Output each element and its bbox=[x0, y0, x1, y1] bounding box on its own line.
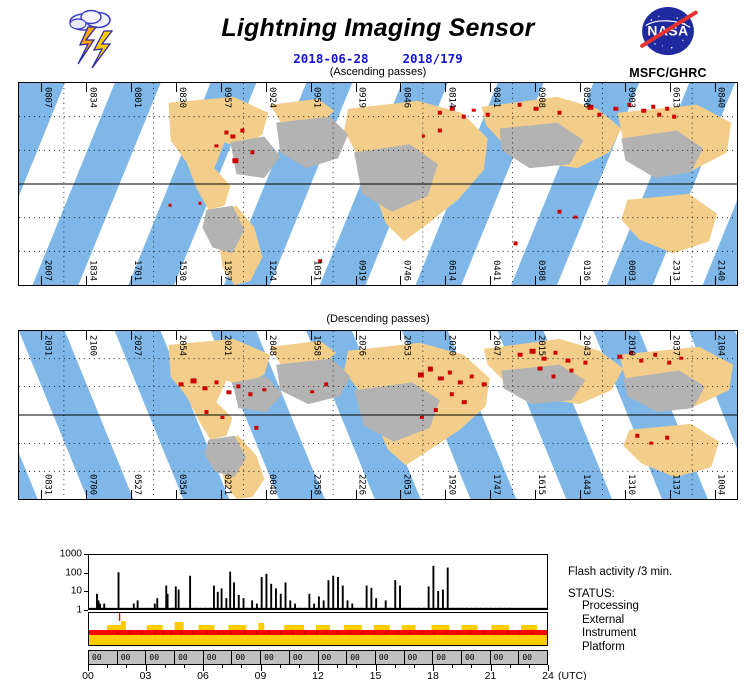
descending-caption: (Descending passes) bbox=[0, 313, 756, 325]
orbit-time-label: 2027 bbox=[132, 335, 142, 356]
flash-bar bbox=[308, 594, 310, 609]
time-axis-tick bbox=[126, 665, 127, 668]
platform-marker bbox=[298, 642, 299, 645]
flash-bar bbox=[399, 586, 401, 609]
platform-markers bbox=[89, 635, 547, 645]
orbit-time-label: 1443 bbox=[581, 474, 591, 495]
flash-bar bbox=[221, 588, 223, 609]
flash-bar bbox=[327, 580, 329, 609]
lis-daily-summary-page: Lightning Imaging Sensor 2018-06-282018/… bbox=[0, 0, 756, 680]
orbit-time-label: 1004 bbox=[716, 474, 726, 495]
flash-bar bbox=[442, 590, 444, 609]
flash-bar bbox=[289, 600, 291, 609]
orbit-time-label: 2037 bbox=[671, 335, 681, 356]
time-axis-tick bbox=[280, 665, 281, 668]
flash-bar bbox=[432, 566, 434, 609]
orbit-time-label: 1357 bbox=[222, 260, 232, 281]
platform-marker bbox=[507, 642, 508, 645]
external-marker bbox=[258, 623, 264, 630]
flash-bar bbox=[375, 598, 377, 609]
orbit-time-label: 2020 bbox=[446, 335, 456, 356]
nasa-logo-block: NASA MSFC/GHRC bbox=[622, 4, 714, 80]
hour-cell: 00 bbox=[519, 651, 547, 664]
orbit-time-label: 0613 bbox=[671, 87, 681, 108]
time-axis-label: 21 bbox=[485, 670, 497, 680]
orbit-time-label: 0048 bbox=[267, 474, 277, 495]
platform-marker bbox=[147, 642, 148, 645]
time-axis-tick bbox=[414, 665, 415, 668]
flash-bar bbox=[394, 580, 396, 609]
platform-marker bbox=[380, 642, 381, 645]
legend-item-external: External bbox=[568, 614, 756, 628]
orbit-time-label: 2140 bbox=[716, 260, 726, 281]
y-axis-tick bbox=[84, 591, 88, 592]
hour-cell: 00 bbox=[232, 651, 261, 664]
time-axis-tick bbox=[471, 665, 472, 668]
flash-bar bbox=[238, 595, 240, 609]
flash-bar bbox=[437, 591, 439, 609]
external-marker bbox=[121, 621, 126, 630]
orbit-time-label: 1920 bbox=[446, 474, 456, 495]
time-axis-label: 18 bbox=[427, 670, 439, 680]
time-axis-tick bbox=[184, 665, 185, 668]
hour-cell: 00 bbox=[319, 651, 348, 664]
orbit-time-label: 2031 bbox=[42, 335, 52, 356]
flash-bar bbox=[251, 600, 253, 609]
orbit-time-label: 2015 bbox=[536, 335, 546, 356]
status-label: STATUS: bbox=[568, 588, 756, 600]
flash-baseline bbox=[89, 608, 547, 609]
orbit-time-label: 2100 bbox=[87, 335, 97, 356]
hour-cell: 00 bbox=[462, 651, 491, 664]
hour-cell: 00 bbox=[290, 651, 319, 664]
flash-activity-label: Flash activity /3 min. bbox=[568, 566, 756, 578]
flash-activity-plot bbox=[88, 554, 548, 610]
platform-marker bbox=[338, 642, 339, 645]
flash-bar bbox=[385, 600, 387, 609]
time-axis-label: 06 bbox=[197, 670, 209, 680]
time-axis-unit-label: (UTC) bbox=[558, 670, 587, 680]
flash-bar bbox=[137, 600, 139, 609]
flash-bar bbox=[178, 590, 180, 609]
orbit-time-label: 0354 bbox=[177, 474, 187, 495]
page-header: Lightning Imaging Sensor 2018-06-282018/… bbox=[0, 0, 756, 78]
orbit-time-label: 1137 bbox=[671, 474, 681, 495]
flash-bar bbox=[118, 572, 120, 609]
flash-bar bbox=[347, 600, 349, 609]
flash-bar bbox=[318, 596, 320, 609]
time-axis-label: 12 bbox=[312, 670, 324, 680]
orbit-time-label: 2026 bbox=[357, 335, 367, 356]
flash-bar bbox=[270, 584, 272, 609]
status-bar-processing bbox=[88, 612, 548, 621]
y-axis-tick-label: 10 bbox=[71, 586, 82, 597]
flash-bar bbox=[447, 568, 449, 609]
external-marker bbox=[175, 622, 184, 630]
time-axis-tick bbox=[395, 665, 396, 668]
hour-cell: 00 bbox=[204, 651, 233, 664]
orbit-time-label: 0830 bbox=[177, 87, 187, 108]
legend-item-processing: Processing bbox=[568, 600, 756, 614]
hour-cell: 00 bbox=[146, 651, 175, 664]
hour-cell: 00 bbox=[261, 651, 290, 664]
orbit-time-label: 2054 bbox=[177, 335, 187, 356]
flash-bar bbox=[275, 588, 277, 609]
time-axis-tick bbox=[165, 665, 166, 668]
flash-bar bbox=[342, 586, 344, 609]
descending-passes-map: 2031210020272054202120481958202620532020… bbox=[18, 330, 738, 500]
flash-bar bbox=[332, 576, 334, 609]
time-axis-tick bbox=[241, 665, 242, 668]
flash-bar bbox=[243, 598, 245, 609]
legend-item-platform: Platform bbox=[568, 641, 756, 655]
time-axis-tick bbox=[299, 665, 300, 668]
time-axis-tick bbox=[356, 665, 357, 668]
flash-bar bbox=[366, 586, 368, 609]
flash-bar bbox=[167, 594, 169, 609]
hour-cell: 00 bbox=[376, 651, 405, 664]
descending-map-frame: 2031210020272054202120481958202620532020… bbox=[18, 330, 738, 500]
orbit-time-label: 0614 bbox=[446, 260, 456, 281]
y-axis-tick-label: 1 bbox=[76, 605, 82, 616]
orbit-time-label: 1051 bbox=[312, 260, 322, 281]
orbit-time-label: 0903 bbox=[626, 87, 636, 108]
status-bar-platform bbox=[88, 635, 548, 646]
orbit-time-label: 0308 bbox=[536, 260, 546, 281]
platform-marker bbox=[181, 642, 182, 645]
ascending-passes-map: 0807083408010830095709240951091908460814… bbox=[18, 82, 738, 286]
hour-cell: 00 bbox=[433, 651, 462, 664]
flash-bar bbox=[229, 572, 231, 609]
orbit-time-label: 2358 bbox=[312, 474, 322, 495]
orbit-time-label: 0924 bbox=[267, 87, 277, 108]
orbit-time-label: 0836 bbox=[581, 87, 591, 108]
y-axis-tick bbox=[84, 554, 88, 555]
orbit-time-label: 0700 bbox=[87, 474, 97, 495]
time-axis-tick bbox=[222, 665, 223, 668]
flash-bar bbox=[261, 577, 263, 609]
platform-marker bbox=[258, 642, 259, 645]
orbit-time-label: 2048 bbox=[267, 335, 277, 356]
orbit-time-label: 0441 bbox=[491, 260, 501, 281]
orbit-time-label: 2104 bbox=[716, 335, 726, 356]
orbit-time-label: 2053 bbox=[401, 474, 411, 495]
flash-bar bbox=[213, 586, 215, 609]
time-axis-tick bbox=[337, 665, 338, 668]
orbit-time-label: 0957 bbox=[222, 87, 232, 108]
orbit-time-label: 0919 bbox=[357, 260, 367, 281]
status-marker bbox=[119, 613, 120, 621]
doy-value: 2018/179 bbox=[403, 51, 463, 66]
orbit-time-label: 0846 bbox=[401, 87, 411, 108]
orbit-time-label: 1958 bbox=[312, 335, 322, 356]
orbit-time-label: 0003 bbox=[626, 260, 636, 281]
orbit-time-label: 0908 bbox=[536, 87, 546, 108]
flash-bar bbox=[285, 582, 287, 609]
orbit-time-label: 2047 bbox=[491, 335, 501, 356]
orbit-time-label: 0801 bbox=[132, 87, 142, 108]
platform-marker bbox=[463, 642, 464, 645]
flash-bar bbox=[189, 576, 191, 609]
processing-markers bbox=[89, 613, 547, 621]
orbit-time-label: 1224 bbox=[267, 260, 277, 281]
orbit-time-label: 2313 bbox=[671, 260, 681, 281]
orbit-time-label: 1747 bbox=[491, 474, 501, 495]
hour-cell: 00 bbox=[118, 651, 147, 664]
hour-cell: 00 bbox=[89, 651, 118, 664]
flash-bar bbox=[337, 577, 339, 609]
time-axis: 000306091215182124(UTC) bbox=[88, 665, 548, 680]
orbit-time-label: 1615 bbox=[536, 474, 546, 495]
orbit-time-label: 0834 bbox=[87, 87, 97, 108]
hour-cell: 00 bbox=[405, 651, 434, 664]
orbit-time-label: 0746 bbox=[401, 260, 411, 281]
orbit-time-label: 1310 bbox=[626, 474, 636, 495]
orbit-time-label: 0841 bbox=[491, 87, 501, 108]
y-axis-tick-label: 100 bbox=[65, 567, 82, 578]
time-axis-label: 03 bbox=[140, 670, 152, 680]
orbit-time-label: 1834 bbox=[87, 260, 97, 281]
orbit-time-label: 2226 bbox=[357, 474, 367, 495]
hour-cells-row: 00000000000000000000000000000000 bbox=[88, 650, 548, 665]
flash-activity-bars bbox=[89, 555, 547, 609]
nasa-meatball-icon: NASA bbox=[631, 4, 705, 60]
orbit-time-label: 0814 bbox=[446, 87, 456, 108]
orbit-time-label: 2043 bbox=[581, 335, 591, 356]
ascending-map-graphic bbox=[19, 83, 737, 285]
hour-cell: 00 bbox=[491, 651, 520, 664]
time-axis-tick bbox=[452, 665, 453, 668]
flash-bar bbox=[265, 574, 267, 609]
orbit-time-label: 0807 bbox=[42, 87, 52, 108]
ascending-map-frame: 0807083408010830095709240951091908460814… bbox=[18, 82, 738, 286]
external-markers bbox=[89, 621, 547, 630]
hour-cell: 00 bbox=[175, 651, 204, 664]
orbit-time-label: 1530 bbox=[177, 260, 187, 281]
time-axis-label: 24 bbox=[542, 670, 554, 680]
flash-bar bbox=[233, 582, 235, 609]
y-axis-tick bbox=[84, 573, 88, 574]
orbit-time-label: 0831 bbox=[42, 474, 52, 495]
time-axis-label: 09 bbox=[255, 670, 267, 680]
flash-bar bbox=[225, 598, 227, 609]
orbit-time-label: 0527 bbox=[132, 474, 142, 495]
date-value: 2018-06-28 bbox=[293, 51, 368, 66]
orbit-time-label: 0221 bbox=[222, 474, 232, 495]
hour-cell: 00 bbox=[347, 651, 376, 664]
time-axis-tick bbox=[529, 665, 530, 668]
platform-marker bbox=[218, 642, 219, 645]
orbit-time-label: 0840 bbox=[716, 87, 726, 108]
time-axis-tick bbox=[510, 665, 511, 668]
chart-legend: Flash activity /3 min. STATUS: Processin… bbox=[568, 566, 756, 654]
flash-bar bbox=[370, 588, 372, 609]
status-bar-external bbox=[88, 621, 548, 630]
flash-bar bbox=[323, 600, 325, 609]
orbit-time-label: 1701 bbox=[132, 260, 142, 281]
time-axis-label: 15 bbox=[370, 670, 382, 680]
orbit-time-label: 0951 bbox=[312, 87, 322, 108]
agency-label: MSFC/GHRC bbox=[622, 66, 714, 80]
y-axis-tick bbox=[84, 610, 88, 611]
flash-bar bbox=[428, 586, 430, 609]
y-axis-tick-label: 1000 bbox=[60, 549, 82, 560]
platform-marker bbox=[117, 642, 118, 645]
flash-bar bbox=[156, 598, 158, 609]
flash-bar bbox=[175, 586, 177, 609]
orbit-time-label: 2007 bbox=[42, 260, 52, 281]
time-axis-label: 00 bbox=[82, 670, 94, 680]
orbit-time-label: 0136 bbox=[581, 260, 591, 281]
time-axis-tick bbox=[107, 665, 108, 668]
flash-bar bbox=[217, 592, 219, 609]
legend-item-instrument: Instrument bbox=[568, 627, 756, 641]
orbit-time-label: 2053 bbox=[401, 335, 411, 356]
orbit-time-label: 0919 bbox=[357, 87, 367, 108]
flash-bar bbox=[280, 594, 282, 609]
platform-marker bbox=[422, 642, 423, 645]
orbit-time-label: 2021 bbox=[222, 335, 232, 356]
orbit-time-label: 2010 bbox=[626, 335, 636, 356]
